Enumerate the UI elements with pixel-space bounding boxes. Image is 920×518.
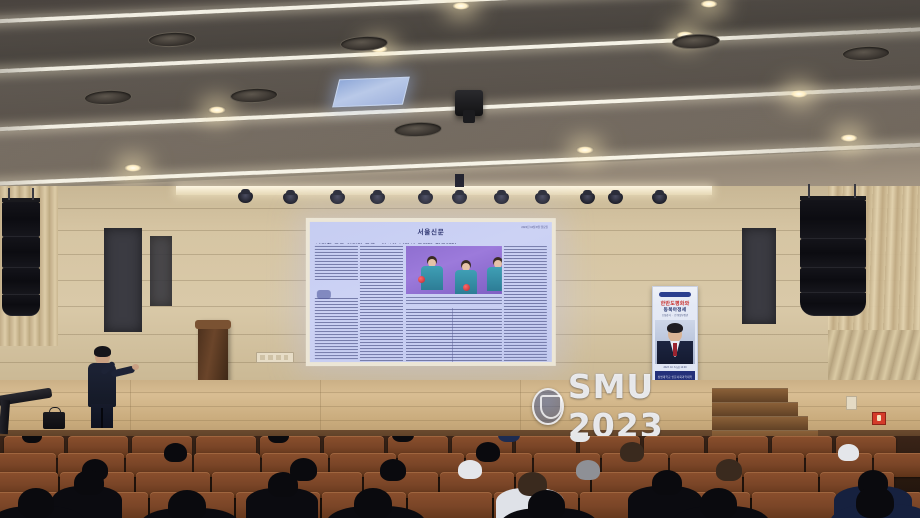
banner-speaker-meta: 초청강사 ㆍ 전 통일부장관: [662, 314, 688, 318]
wall-outlet-panel: [256, 352, 294, 363]
recessed-ceiling-light: [840, 134, 858, 142]
recessed-ceiling-light: [124, 164, 142, 172]
newspaper-masthead: 서울신문: [310, 222, 552, 236]
newspaper-logo-blob: [317, 290, 331, 299]
lectern: [198, 320, 228, 384]
news-column: [504, 246, 547, 362]
audience-head: [856, 486, 894, 518]
audience-head: [380, 459, 406, 481]
newspaper-headline: 나란히 금도 이기면 푸른…아시아 남자선 금메달 합금메달: [310, 239, 552, 244]
wall-plate: [846, 396, 857, 410]
newspaper-photo-caption: [406, 297, 502, 306]
banner-badge: [659, 292, 691, 297]
audience-head: [168, 490, 206, 518]
audience-head: [18, 488, 54, 518]
presenter: [78, 348, 134, 426]
audience-head: [74, 470, 104, 495]
recessed-ceiling-light: [700, 0, 718, 8]
audience-head: [620, 442, 644, 462]
news-column: [315, 246, 358, 362]
audience-head: [458, 460, 482, 479]
audience-head: [528, 490, 565, 518]
banner-schedule: 2023. 10. 6.(금) 14:00: [663, 365, 686, 369]
athlete-right: [485, 257, 501, 291]
newspaper-dateline: 2023년 10월 8일 일요일: [521, 226, 548, 230]
banner-title-line-1: 한반도평화와: [661, 300, 690, 307]
audience-seating: [0, 436, 920, 518]
event-banner: 한반도평화와 동북아정세 초청강사 ㆍ 전 통일부장관 2023. 10. 6.…: [652, 286, 698, 392]
banner-speaker-photo: [655, 320, 695, 364]
acoustic-panel-right: [742, 228, 776, 324]
ceiling-blue-panel: [332, 77, 410, 108]
newspaper-columns: [310, 246, 552, 362]
audience-head: [354, 488, 392, 518]
acoustic-panel-left-2: [150, 236, 172, 306]
news-column: [360, 246, 403, 362]
audience-head: [164, 443, 187, 462]
recessed-ceiling-light: [790, 90, 808, 98]
audience-head: [700, 488, 737, 518]
athlete-left: [420, 256, 444, 290]
recessed-ceiling-light: [452, 2, 470, 10]
auditorium-photo: 서울신문 2023년 10월 8일 일요일 나란히 금도 이기면 푸른…아시아 …: [0, 0, 920, 518]
audience-head: [838, 444, 859, 461]
audience-head: [716, 459, 742, 481]
newspaper-photo: [406, 246, 502, 294]
recessed-ceiling-light: [208, 106, 226, 114]
banner-title-line-2: 동북아정세: [664, 307, 687, 313]
audience-head: [576, 460, 600, 480]
projection-screen: 서울신문 2023년 10월 8일 일요일 나란히 금도 이기면 푸른…아시아 …: [306, 218, 556, 366]
ceiling-projector: [455, 90, 483, 116]
truss-hanger: [455, 174, 464, 187]
fire-alarm-box: [872, 412, 886, 425]
ceiling: [0, 0, 920, 200]
line-array-speaker-right: [800, 196, 866, 318]
newspaper-page: 서울신문 2023년 10월 8일 일요일 나란히 금도 이기면 푸른…아시아 …: [310, 222, 552, 362]
audience-head: [476, 442, 500, 462]
banner-footer-org: 상명대학교 인문사회과학대학: [658, 375, 693, 379]
recessed-ceiling-light: [576, 146, 594, 154]
stage-light-rail: [176, 186, 712, 195]
audience-head: [268, 472, 298, 497]
line-array-speaker-left: [2, 198, 40, 316]
equipment-stand: [0, 392, 58, 436]
acoustic-panel-left: [104, 228, 142, 332]
athlete-center: [454, 260, 478, 294]
news-column-photo: [406, 246, 502, 362]
audience-head: [652, 470, 682, 495]
